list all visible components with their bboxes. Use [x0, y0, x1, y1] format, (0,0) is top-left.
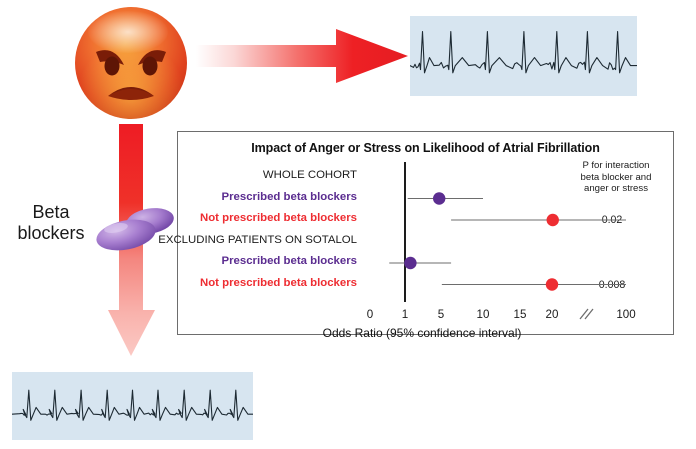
- odds-ratio-marker: [404, 257, 416, 269]
- pvalue-cell: 0.02: [564, 214, 660, 226]
- ecg-atrial-fibrillation-strip: [410, 16, 637, 96]
- ecg-sinus-rhythm-strip: [12, 372, 253, 440]
- axis-break-icon: [577, 308, 595, 324]
- axis-tick-label: 10: [477, 308, 490, 321]
- anger-arrow-icon: [196, 28, 408, 84]
- pvalue-header-line1: P for interaction: [564, 160, 668, 172]
- forest-row-label: Not prescribed beta blockers: [147, 213, 357, 224]
- pvalue-cell: 0.008: [564, 279, 660, 291]
- axis-tick-label: 1: [402, 308, 408, 321]
- forest-row-label: Prescribed beta blockers: [147, 192, 357, 203]
- pvalue-header-line3: anger or stress: [564, 183, 668, 195]
- forest-row-label: Not prescribed beta blockers: [147, 278, 357, 289]
- pvalue-column-header: P for interaction beta blocker and anger…: [564, 160, 668, 195]
- chart-title: Impact of Anger or Stress on Likelihood …: [178, 141, 673, 155]
- odds-ratio-marker: [433, 192, 445, 204]
- infographic-canvas: Beta blockers Impact of Anger or Stress …: [0, 0, 696, 449]
- x-axis-ticks: 015101520100: [178, 308, 675, 324]
- axis-tick-label: 15: [514, 308, 527, 321]
- axis-tick-label: 0: [367, 308, 373, 321]
- forest-row-label: Prescribed beta blockers: [147, 256, 357, 267]
- axis-tick-label: 5: [438, 308, 444, 321]
- axis-tick-label: 20: [546, 308, 559, 321]
- group-heading-label: WHOLE COHORT: [147, 170, 357, 181]
- plot-area: P for interaction beta blocker and anger…: [178, 160, 675, 334]
- x-axis-label: Odds Ratio (95% confidence interval): [178, 326, 666, 340]
- odds-ratio-marker: [547, 214, 559, 226]
- group-heading-label: EXCLUDING PATIENTS ON SOTALOL: [147, 235, 357, 246]
- odds-ratio-marker: [546, 278, 558, 290]
- beta-blockers-label: Beta blockers: [8, 202, 94, 244]
- forest-plot-panel: Impact of Anger or Stress on Likelihood …: [177, 131, 674, 335]
- beta-blockers-label-line1: Beta: [8, 202, 94, 223]
- angry-face-icon: [72, 4, 190, 122]
- pvalue-header-line2: beta blocker and: [564, 172, 668, 184]
- axis-tick-label: 100: [616, 308, 635, 321]
- beta-blocker-pills-icon: [92, 204, 178, 256]
- beta-blockers-label-line2: blockers: [8, 223, 94, 244]
